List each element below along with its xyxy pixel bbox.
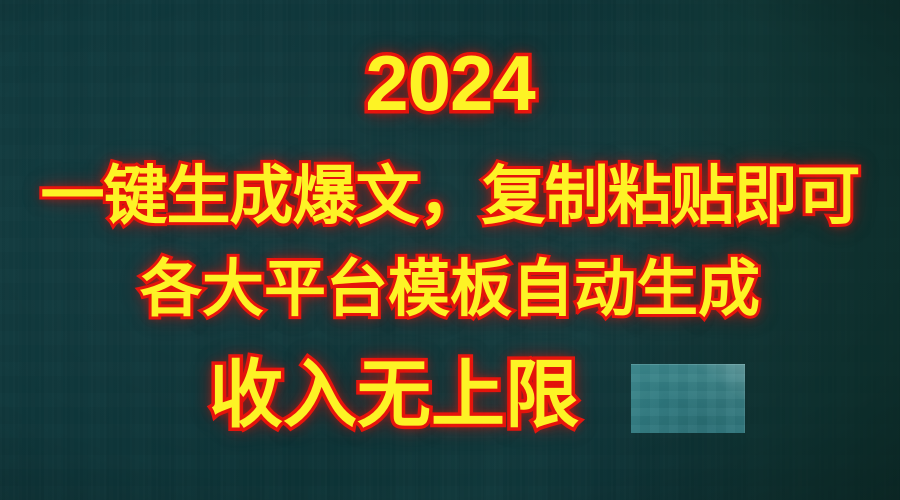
headline-line-four: 收入无上限	[0, 358, 900, 432]
headline-year: 2024	[0, 44, 900, 122]
censor-pixelation-texture	[631, 364, 745, 433]
headline-line-two: 一键生成爆文，复制粘贴即可	[0, 164, 900, 228]
headline-line-three: 各大平台模板自动生成	[0, 259, 900, 321]
censor-blur-overlay	[631, 364, 745, 433]
promo-poster: 2024 一键生成爆文，复制粘贴即可 各大平台模板自动生成 收入无上限	[0, 0, 900, 500]
